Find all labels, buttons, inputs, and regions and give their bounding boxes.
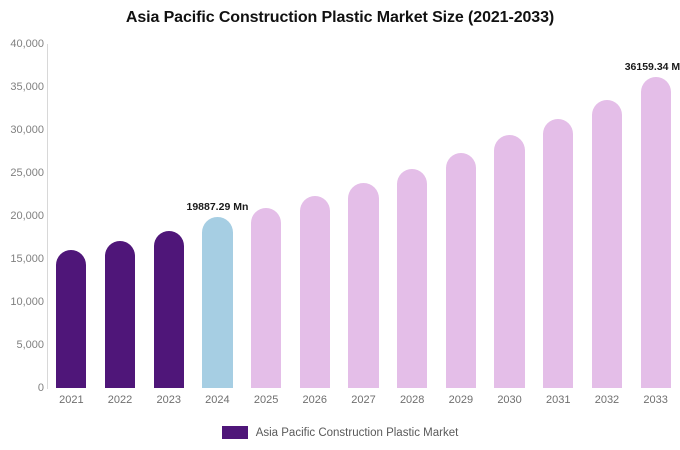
x-axis-tick-label: 2030 [485, 394, 534, 406]
bar[interactable] [56, 250, 86, 388]
x-axis-tick-label: 2031 [534, 394, 583, 406]
bar-column[interactable] [641, 44, 671, 388]
x-axis-tick-label: 2024 [193, 394, 242, 406]
plot-area [47, 44, 680, 388]
bar[interactable] [251, 208, 281, 388]
chart-container: Asia Pacific Construction Plastic Market… [0, 0, 680, 450]
x-axis-tick-label: 2021 [47, 394, 96, 406]
bar-column[interactable] [592, 44, 622, 388]
chart-legend: Asia Pacific Construction Plastic Market [0, 426, 680, 439]
chart-title: Asia Pacific Construction Plastic Market… [0, 9, 680, 27]
x-axis-tick-label: 2027 [339, 394, 388, 406]
y-axis-tick-label: 35,000 [0, 81, 44, 93]
bar-column[interactable] [397, 44, 427, 388]
bar-column[interactable] [202, 44, 232, 388]
bar-column[interactable] [154, 44, 184, 388]
bar[interactable] [202, 217, 232, 388]
y-axis-tick-label: 40,000 [0, 38, 44, 50]
bar-column[interactable] [251, 44, 281, 388]
y-axis-tick-label: 10,000 [0, 296, 44, 308]
x-axis-tick-label: 2033 [631, 394, 680, 406]
y-axis-tick-label: 20,000 [0, 210, 44, 222]
bar[interactable] [300, 196, 330, 388]
bar-column[interactable] [494, 44, 524, 388]
bar-column[interactable] [56, 44, 86, 388]
y-axis-tick-label: 25,000 [0, 167, 44, 179]
y-axis-tick-labels: 05,00010,00015,00020,00025,00030,00035,0… [0, 0, 44, 450]
bar-column[interactable] [300, 44, 330, 388]
bar[interactable] [543, 119, 573, 388]
bar-column[interactable] [105, 44, 135, 388]
x-axis-tick-label: 2022 [96, 394, 145, 406]
bar-value-label: 36159.34 Mn [625, 61, 680, 73]
legend-label: Asia Pacific Construction Plastic Market [256, 427, 459, 439]
bar[interactable] [592, 100, 622, 388]
bar[interactable] [397, 169, 427, 388]
y-axis-tick-label: 30,000 [0, 124, 44, 136]
bar[interactable] [348, 183, 378, 388]
y-axis-tick-label: 5,000 [0, 339, 44, 351]
bar[interactable] [494, 135, 524, 388]
bar-column[interactable] [446, 44, 476, 388]
bar[interactable] [154, 231, 184, 388]
bar[interactable] [105, 241, 135, 388]
x-axis-tick-label: 2023 [144, 394, 193, 406]
y-axis-tick-label: 0 [0, 382, 44, 394]
bar[interactable] [641, 77, 671, 388]
x-axis-tick-label: 2029 [437, 394, 486, 406]
bar-value-label: 19887.29 Mn [186, 201, 248, 213]
x-axis-tick-label: 2025 [242, 394, 291, 406]
bar-column[interactable] [348, 44, 378, 388]
bar-column[interactable] [543, 44, 573, 388]
x-axis-tick-label: 2026 [290, 394, 339, 406]
bar[interactable] [446, 153, 476, 388]
legend-swatch-icon [222, 426, 248, 439]
x-axis-tick-label: 2028 [388, 394, 437, 406]
y-axis-tick-label: 15,000 [0, 253, 44, 265]
x-axis-tick-label: 2032 [583, 394, 632, 406]
